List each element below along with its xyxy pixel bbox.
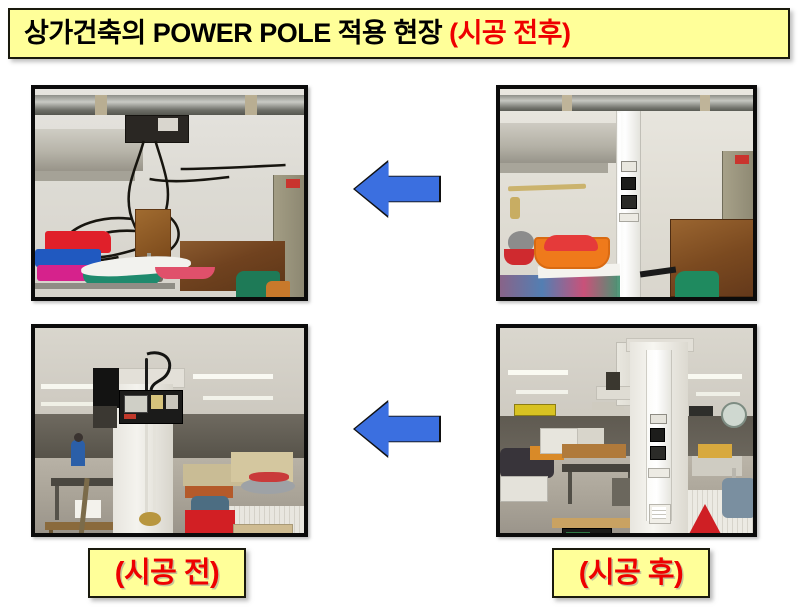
pole-label-plate — [650, 414, 667, 424]
paper-stack — [75, 500, 101, 518]
wall-clock-icon — [721, 402, 747, 428]
ceiling-lamp — [41, 402, 93, 406]
panel-breaker — [166, 395, 178, 409]
bench-leg — [49, 530, 53, 537]
junction-box — [606, 372, 620, 390]
pole-joint-cover — [619, 213, 639, 222]
pole-lower-outlet-grid — [652, 507, 666, 519]
pipe-band-icon — [245, 95, 257, 115]
pole-outlet — [650, 428, 665, 442]
caption-after: (시공 후) — [552, 548, 710, 598]
arrow-top-left-pointing — [355, 158, 439, 220]
red-tray — [544, 235, 598, 251]
pole-joint-cover — [648, 468, 670, 478]
ceiling-pipe — [500, 95, 753, 111]
green-bag — [675, 271, 719, 297]
red-bowl — [504, 249, 534, 265]
ceiling-lamp — [696, 392, 740, 396]
pole-outlet — [621, 177, 636, 190]
yellow-sign — [514, 404, 556, 416]
ceiling-lamp — [203, 396, 273, 400]
cardboard-box — [233, 524, 293, 537]
black-enclosure-lower — [93, 406, 117, 428]
concrete-slab — [500, 123, 618, 163]
worker-head — [74, 433, 83, 442]
photo-bottom-left-scene — [35, 328, 304, 533]
pink-tray — [155, 267, 215, 279]
photo-top-right-scene — [500, 89, 753, 297]
pipe-band-icon — [700, 95, 710, 111]
cabinet-label — [735, 155, 749, 164]
panel-breaker — [151, 395, 163, 409]
wall-stain — [510, 197, 520, 219]
ceiling-lamp — [193, 374, 273, 379]
black-enclosure — [93, 368, 119, 408]
pole-switch — [650, 446, 666, 460]
page-title: 상가건축의 POWER POLE 적용 현장 (시공 전후) — [10, 20, 570, 47]
mop-head — [722, 478, 756, 518]
panel-indicator — [124, 414, 136, 419]
wall-placard — [689, 406, 713, 416]
hanging-socket — [139, 512, 161, 526]
arrow-bottom-left-pointing — [355, 398, 439, 460]
ceiling-lamp — [682, 374, 742, 379]
caption-before-label: (시공 전) — [115, 559, 219, 588]
ceiling-pipe — [35, 95, 304, 115]
pole-switch — [621, 195, 637, 209]
photo-top-right-after — [496, 85, 757, 301]
panel-meter — [124, 395, 148, 413]
photo-bottom-right-scene — [500, 328, 753, 533]
photo-bottom-left-before — [31, 324, 308, 537]
title-banner: 상가건축의 POWER POLE 적용 현장 (시공 전후) — [8, 8, 790, 59]
red-fabric — [185, 510, 235, 537]
ceiling-lamp — [508, 370, 568, 375]
pole-label-plate — [621, 161, 637, 172]
yellow-box — [698, 444, 732, 458]
white-crate — [500, 476, 548, 502]
cabinet-label — [286, 179, 300, 188]
red-equipment — [590, 536, 604, 537]
pipe-band-icon — [95, 95, 107, 115]
concrete-slab-edge — [500, 163, 608, 173]
fabric-pile — [500, 275, 620, 297]
wooden-table — [562, 444, 626, 458]
caption-after-label: (시공 후) — [579, 559, 683, 588]
caption-before: (시공 전) — [88, 548, 246, 598]
photo-top-left-before — [31, 85, 308, 301]
wire-shelf — [35, 283, 175, 289]
red-tray — [249, 472, 289, 482]
title-accent-text: (시공 전후) — [449, 18, 570, 48]
hanging-wire — [153, 424, 156, 510]
wooden-bench — [552, 518, 638, 528]
ceiling-lamp — [516, 390, 568, 394]
photo-top-left-scene — [35, 89, 304, 297]
table-leg — [568, 472, 572, 504]
photo-bottom-right-after — [496, 324, 757, 537]
work-table — [562, 464, 638, 472]
pipe-band-icon — [562, 95, 572, 111]
orange-item — [266, 281, 290, 297]
wooden-mount-block — [135, 209, 171, 257]
hanging-wire — [145, 424, 148, 514]
title-main-text: 상가건축의 POWER POLE 적용 현장 — [24, 18, 449, 48]
worker-body — [71, 440, 85, 466]
green-hose — [566, 532, 590, 537]
table-leg — [55, 486, 59, 520]
chair — [612, 478, 630, 506]
